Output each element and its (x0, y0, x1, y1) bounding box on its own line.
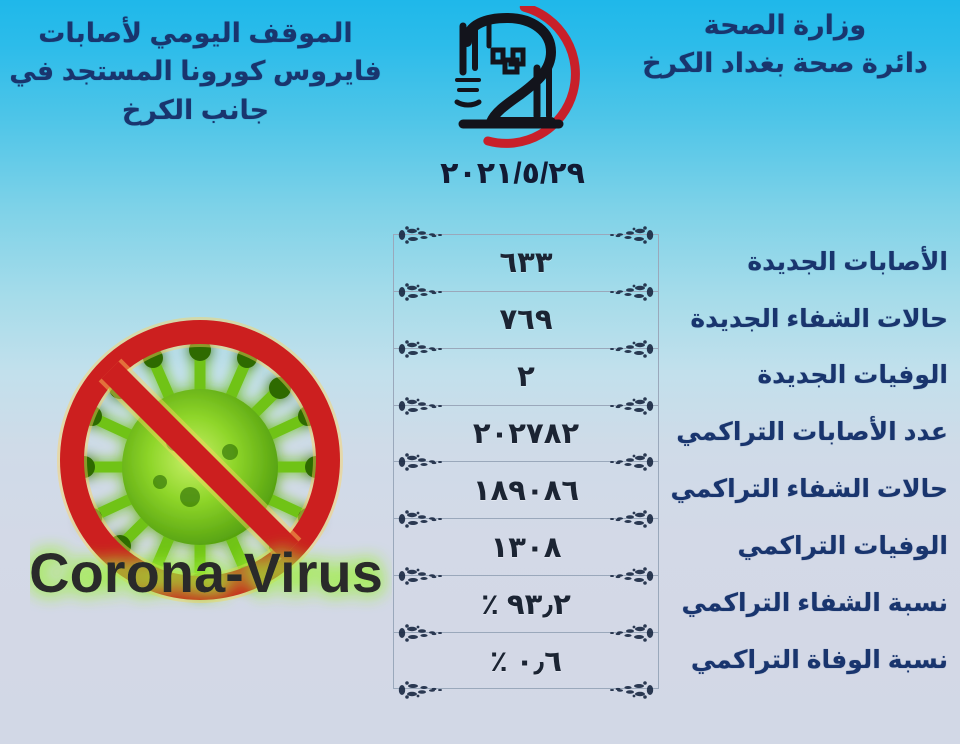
ornament-icon (394, 222, 456, 248)
virus-caption: Corona-Virus (30, 541, 383, 604)
poster-canvas: الموقف اليومي لأصابات فايروس كورونا المس… (0, 0, 960, 744)
stat-value-new-cases: ٦٣٣ (499, 245, 552, 280)
stat-label-new-deaths: الوفيات الجديدة (666, 362, 952, 390)
report-date: ٢٠٢١/٥/٢٩ (405, 156, 620, 191)
ministry-header: وزارة الصحة دائرة صحة بغداد الكرخ (620, 6, 950, 83)
stat-label-total-cases: عدد الأصابات التراكمي (666, 419, 952, 447)
list-item: عدد الأصابات التراكمي (666, 405, 952, 462)
list-item: نسبة الوفاة التراكمي (666, 632, 952, 689)
table-row: ٢ (394, 349, 658, 406)
stat-label-new-recoveries: حالات الشفاء الجديدة (666, 306, 952, 334)
table-row: ٪ ٩٣٫٢ (394, 576, 658, 633)
table-row: ٢٠٢٧٨٢ (394, 406, 658, 463)
list-item: حالات الشفاء التراكمي (666, 461, 952, 518)
list-item: نسبة الشفاء التراكمي (666, 575, 952, 632)
karkh-health-logo-icon (433, 6, 593, 154)
stat-value-new-deaths: ٢ (517, 359, 535, 394)
list-item: الأصابات الجديدة (666, 234, 952, 291)
stats-labels-column: الأصابات الجديدة حالات الشفاء الجديدة ال… (666, 234, 952, 689)
page-title: الموقف اليومي لأصابات فايروس كورونا المس… (8, 14, 383, 129)
list-item: الوفيات التراكمي (666, 518, 952, 575)
table-row: ٪ ٠٫٦ (394, 633, 658, 690)
table-row: ٦٣٣ (394, 235, 658, 292)
stat-label-total-deaths: الوفيات التراكمي (666, 533, 952, 561)
list-item: الوفيات الجديدة (666, 348, 952, 405)
corona-virus-illustration: Corona-Virus (30, 292, 392, 622)
stats-table: ٦٣٣ ٧٦٩ ٢ ٢٠٢٧٨٢ ١٨٩٠٨٦ ١٣٠٨ (393, 234, 659, 689)
stat-value-total-cases: ٢٠٢٧٨٢ (473, 416, 579, 451)
stat-label-recovery-rate: نسبة الشفاء التراكمي (666, 590, 952, 618)
stat-value-recovery-rate: ٪ ٩٣٫٢ (481, 587, 571, 622)
ministry-name: وزارة الصحة (620, 6, 950, 44)
logo-block: ٢٠٢١/٥/٢٩ (405, 4, 620, 204)
stat-value-total-deaths: ١٣٠٨ (491, 530, 562, 565)
table-row: ٧٦٩ (394, 292, 658, 349)
stat-value-new-recoveries: ٧٦٩ (499, 302, 552, 337)
table-row: ١٨٩٠٨٦ (394, 462, 658, 519)
stat-value-total-recoveries: ١٨٩٠٨٦ (473, 473, 579, 508)
stat-label-death-rate: نسبة الوفاة التراكمي (666, 647, 952, 675)
list-item: حالات الشفاء الجديدة (666, 291, 952, 348)
stat-label-new-cases: الأصابات الجديدة (666, 249, 952, 277)
directorate-name: دائرة صحة بغداد الكرخ (620, 44, 950, 82)
stat-value-death-rate: ٪ ٠٫٦ (490, 644, 562, 679)
ornament-icon (596, 222, 658, 248)
stat-label-total-recoveries: حالات الشفاء التراكمي (666, 476, 952, 504)
ornament-icon (394, 677, 456, 703)
ornament-icon (596, 677, 658, 703)
table-row: ١٣٠٨ (394, 519, 658, 576)
